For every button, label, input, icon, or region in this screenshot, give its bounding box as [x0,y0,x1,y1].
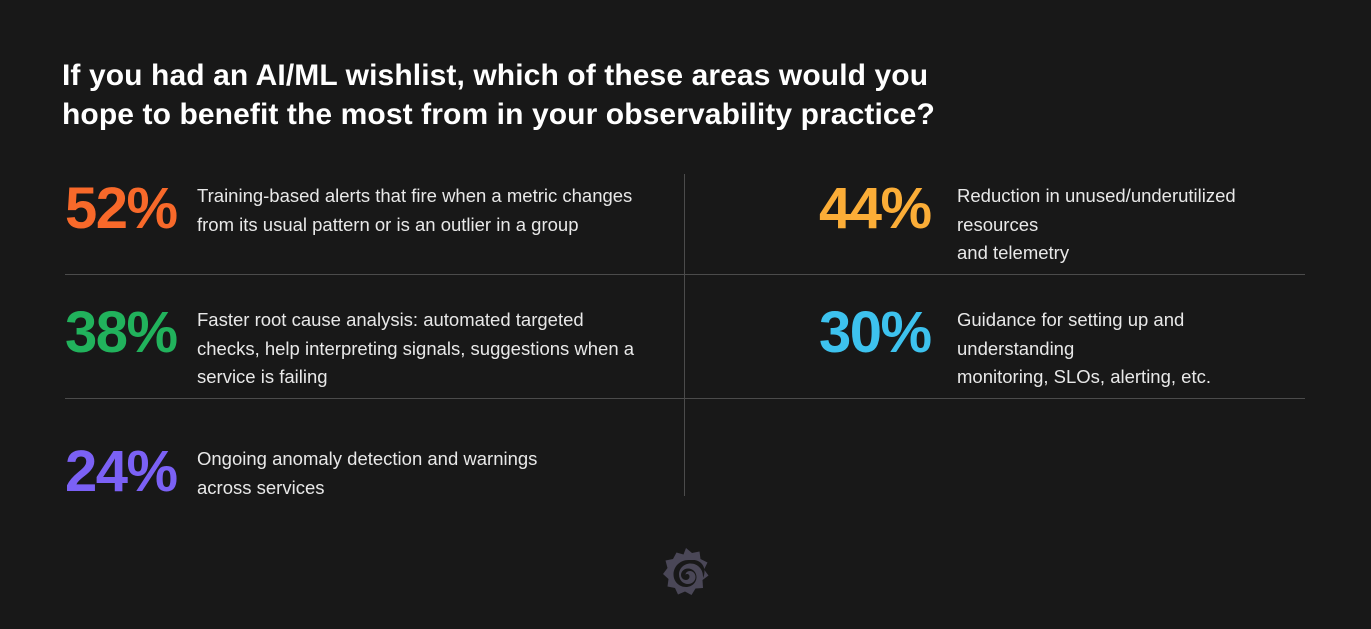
stat-grid: 52% Training-based alerts that fire when… [65,174,1305,496]
grafana-logo-icon [661,547,711,601]
stat-description-44: Reduction in unused/underutilized resour… [957,174,1305,268]
stat-item-44: 44% Reduction in unused/underutilized re… [685,174,1305,274]
stat-value-24: 24% [65,443,197,501]
stat-description-52-line-2: from its usual pattern or is an outlier … [197,214,579,235]
stat-description-24: Ongoing anomaly detection and warnings a… [197,437,537,502]
stat-item-52: 52% Training-based alerts that fire when… [65,174,685,274]
stat-row-1: 52% Training-based alerts that fire when… [65,174,1305,274]
stat-row-3: 24% Ongoing anomaly detection and warnin… [65,437,1305,497]
stat-value-30: 30% [819,304,957,362]
stat-description-24-line-2: across services [197,477,324,498]
stat-item-empty [685,437,1305,497]
infographic-slide: If you had an AI/ML wishlist, which of t… [0,0,1371,629]
stat-value-38: 38% [65,304,197,362]
stat-description-52: Training-based alerts that fire when a m… [197,174,632,239]
stat-description-38-line-2: checks, help interpreting signals, sugge… [197,338,634,359]
stat-description-44-line-1: Reduction in unused/underutilized resour… [957,185,1236,235]
stat-row-2: 38% Faster root cause analysis: automate… [65,298,1305,422]
stat-description-24-line-1: Ongoing anomaly detection and warnings [197,448,537,469]
stat-description-30: Guidance for setting up and understandin… [957,298,1305,392]
stat-description-30-line-1: Guidance for setting up and understandin… [957,309,1184,359]
stat-item-38: 38% Faster root cause analysis: automate… [65,298,685,422]
stat-description-30-line-2: monitoring, SLOs, alerting, etc. [957,366,1211,387]
stat-description-38-line-1: Faster root cause analysis: automated ta… [197,309,584,330]
stat-item-30: 30% Guidance for setting up and understa… [685,298,1305,422]
stat-description-38-line-3: service is failing [197,366,328,387]
stat-description-44-line-2: and telemetry [957,242,1069,263]
page-title-line-2: hope to benefit the most from in your ob… [62,95,962,134]
page-title-line-1: If you had an AI/ML wishlist, which of t… [62,56,962,95]
stat-item-24: 24% Ongoing anomaly detection and warnin… [65,437,685,497]
stat-value-52: 52% [65,180,197,238]
page-title: If you had an AI/ML wishlist, which of t… [62,56,962,134]
stat-value-44: 44% [819,180,957,238]
stat-description-38: Faster root cause analysis: automated ta… [197,298,634,392]
stat-description-52-line-1: Training-based alerts that fire when a m… [197,185,632,206]
